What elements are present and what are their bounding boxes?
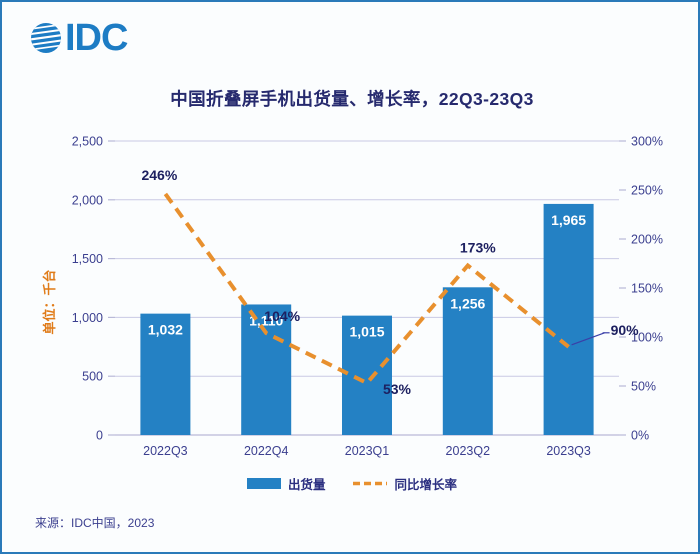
- legend-label-growth-rate: 同比增长率: [395, 474, 458, 493]
- category-label: 2023Q1: [345, 444, 390, 458]
- left-axis-title: 单位：千台: [42, 269, 57, 334]
- growth-rate-label: 90%: [611, 322, 640, 338]
- source-note: 来源：IDC中国，2023: [35, 514, 154, 531]
- right-tick-label: 250%: [631, 184, 663, 198]
- left-tick-label: 0: [96, 429, 103, 443]
- right-tick-label: 300%: [631, 135, 663, 149]
- left-tick-label: 2,500: [72, 135, 103, 149]
- bar-series: [140, 204, 593, 435]
- chart-page: IDC 中国折叠屏手机出货量、增长率，22Q3-23Q3 05001,0001,…: [0, 0, 700, 554]
- growth-rate-label: 246%: [141, 167, 177, 183]
- left-tick-label: 1,000: [72, 311, 103, 325]
- bar-value-label: 1,015: [349, 324, 384, 340]
- right-tick-label: 0%: [631, 429, 649, 443]
- right-tick-label: 150%: [631, 282, 663, 296]
- category-label: 2023Q3: [546, 444, 591, 458]
- category-label: 2022Q4: [244, 444, 289, 458]
- category-label: 2023Q2: [446, 444, 491, 458]
- category-label: 2022Q3: [143, 444, 188, 458]
- legend-label-shipments: 出货量: [288, 474, 326, 493]
- growth-rate-label: 173%: [460, 239, 496, 255]
- left-tick-label: 1,500: [72, 252, 103, 266]
- left-axis-tick-labels: 05001,0001,5002,0002,500: [72, 135, 103, 443]
- legend-item-shipments[interactable]: 出货量: [247, 474, 326, 493]
- left-tick-label: 500: [82, 370, 103, 384]
- legend-item-growth-rate[interactable]: 同比增长率: [352, 474, 458, 493]
- right-tick-label: 50%: [631, 380, 656, 394]
- legend-bar-swatch-icon: [247, 478, 281, 489]
- left-tick-label: 2,000: [72, 193, 103, 207]
- right-axis-ticks: [619, 141, 626, 435]
- legend-dashed-line-icon: [352, 478, 388, 489]
- category-axis-labels: 2022Q32022Q42023Q12023Q22023Q3: [143, 444, 591, 458]
- bar-value-label: 1,256: [450, 295, 485, 311]
- bar[interactable]: [544, 204, 594, 435]
- bar-value-label: 1,032: [148, 322, 183, 338]
- right-axis-tick-labels: 0%50%100%150%200%250%300%: [631, 135, 663, 443]
- chart-plot-area: 05001,0001,5002,0002,500 0%50%100%150%20…: [2, 2, 700, 556]
- chart-svg: 05001,0001,5002,0002,500 0%50%100%150%20…: [2, 2, 700, 556]
- growth-rate-label: 104%: [264, 308, 300, 324]
- left-axis-ticks: [108, 141, 115, 435]
- growth-rate-label: 53%: [383, 381, 412, 397]
- chart-legend: 出货量 同比增长率: [2, 474, 700, 493]
- bar-value-label: 1,965: [551, 212, 586, 228]
- right-tick-label: 200%: [631, 233, 663, 247]
